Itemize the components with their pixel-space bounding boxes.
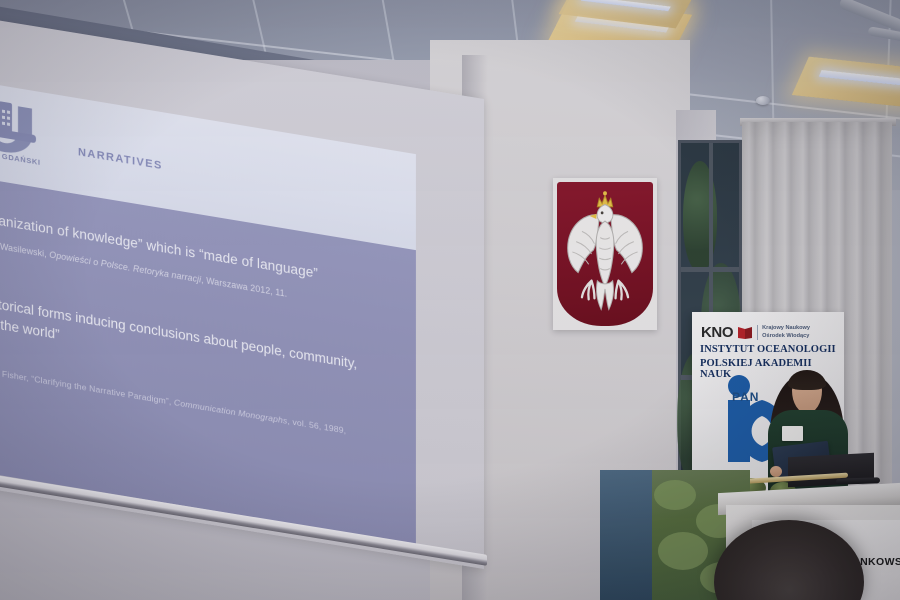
institute-line-1: INSTYTUT OCEANOLOGII	[700, 344, 836, 355]
open-book-icon	[737, 326, 753, 340]
photo-water-area	[600, 470, 652, 600]
polish-coat-of-arms	[553, 178, 657, 330]
smoke-detector	[756, 96, 770, 105]
speaker-fringe	[788, 370, 826, 390]
ug-emblem-icon	[0, 95, 38, 158]
white-eagle-icon	[557, 182, 653, 326]
know-tagline-line-1: Krajowy Naukowy	[762, 325, 810, 331]
university-of-gdansk-logo: IWERSYTET GDAŃSKI	[0, 93, 50, 179]
know-tagline-line-2: Ośrodek Wiodący	[762, 333, 809, 339]
speaker-hand-left	[770, 466, 782, 477]
know-tagline: Krajowy Naukowy Ośrodek Wiodący	[757, 325, 810, 340]
conference-room-photo: IWERSYTET GDAŃSKI NARRATIVES “organizati…	[0, 0, 900, 600]
pan-label: PAN	[732, 390, 759, 404]
projection-screen: IWERSYTET GDAŃSKI NARRATIVES “organizati…	[0, 18, 494, 518]
speaker-name-badge	[782, 426, 803, 441]
projected-slide: IWERSYTET GDAŃSKI NARRATIVES “organizati…	[0, 80, 416, 544]
know-logo: KNO Krajowy Naukowy Ośrodek Wiodący	[701, 324, 810, 341]
know-wordmark: KNO	[701, 324, 733, 341]
